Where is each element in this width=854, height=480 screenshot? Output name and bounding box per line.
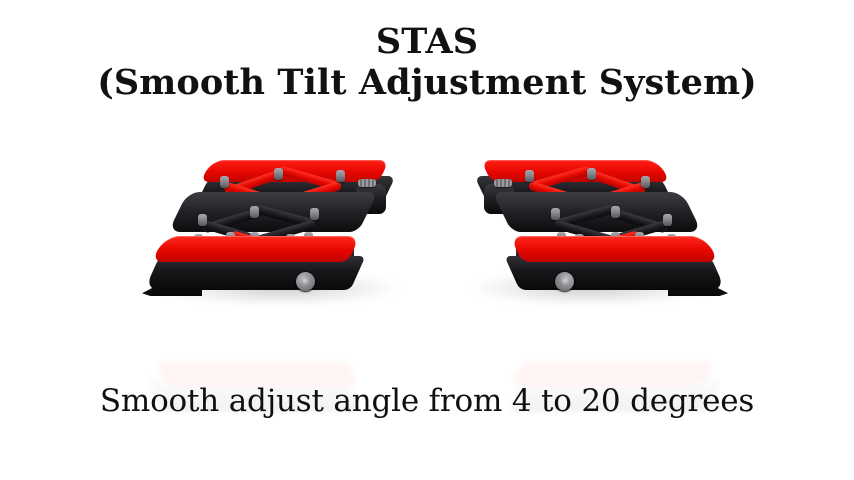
hinge-cap [494, 179, 512, 187]
pivot-pin [551, 208, 560, 220]
page-title: STAS (Smooth Tilt Adjustment System) [0, 22, 854, 103]
hinge-cap [358, 179, 376, 187]
product-stage [0, 150, 854, 380]
front-red-plate [510, 236, 718, 262]
pivot-pin [587, 168, 596, 180]
pivot-pin [220, 176, 229, 188]
front-red-plate [152, 236, 360, 262]
front-badge-icon [296, 272, 315, 291]
product-right-bracket [460, 150, 720, 320]
front-plate-group [152, 236, 360, 306]
product-left-bracket [150, 150, 410, 320]
title-line-2: (Smooth Tilt Adjustment System) [0, 63, 854, 104]
slide-root: STAS (Smooth Tilt Adjustment System) [0, 0, 854, 480]
front-plate-group [510, 236, 718, 306]
front-badge-icon [555, 272, 574, 291]
pivot-pin [663, 214, 672, 226]
pivot-pin [336, 170, 345, 182]
pivot-pin [198, 214, 207, 226]
pivot-pin [250, 206, 259, 218]
title-line-1: STAS [0, 22, 854, 63]
pivot-pin [274, 168, 283, 180]
pivot-pin [611, 206, 620, 218]
pivot-pin [641, 176, 650, 188]
pivot-pin [310, 208, 319, 220]
caption-text: Smooth adjust angle from 4 to 20 degrees [0, 383, 854, 419]
pivot-pin [525, 170, 534, 182]
